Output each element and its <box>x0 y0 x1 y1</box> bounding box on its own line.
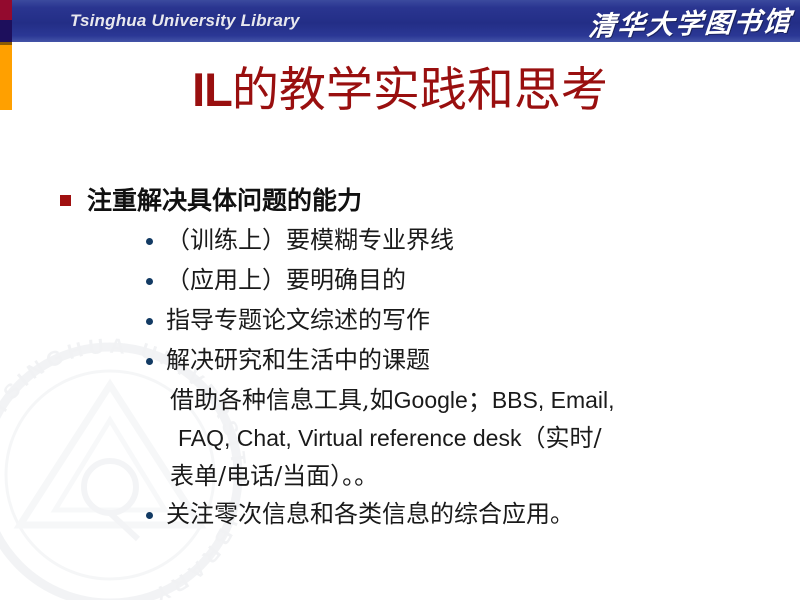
dot-bullet-icon <box>146 278 153 285</box>
bullet-level1-item: 注重解决具体问题的能力 <box>60 185 800 216</box>
dot-bullet-icon <box>146 238 153 245</box>
bullet-level2-label: （应用上）要明确目的 <box>166 262 406 300</box>
bullet-level2-item: 解决研究和生活中的课题 <box>146 342 800 380</box>
continuation-latin: FAQ, Chat, Virtual reference desk <box>178 425 521 451</box>
library-logo: 清华大学图书馆 <box>592 2 792 40</box>
header-title: Tsinghua University Library <box>70 11 300 31</box>
continuation-sep: ； <box>468 386 492 414</box>
bullet-level2-label: 关注零次信息和各类信息的综合应用。 <box>166 496 574 534</box>
continuation-latin-2: BBS, Email, <box>492 387 615 413</box>
library-logo-text: 清华大学图书馆 <box>587 0 794 43</box>
bullet-level2-label: 指导专题论文综述的写作 <box>166 302 430 340</box>
slide-title-latin: IL <box>192 63 232 116</box>
continuation-line: 表单/电话/当面）。。 <box>170 458 800 496</box>
square-bullet-icon <box>60 195 71 206</box>
dot-bullet-icon <box>146 358 153 365</box>
dot-bullet-icon <box>146 512 153 519</box>
bullet-level1-label: 注重解决具体问题的能力 <box>87 185 362 216</box>
bullet-level2-label: （训练上）要模糊专业界线 <box>166 222 454 260</box>
continuation-cjk: 借助各种信息工具,如 <box>170 386 394 414</box>
bullet-level2-item: 指导专题论文综述的写作 <box>146 302 800 340</box>
continuation-latin: Google <box>394 387 468 413</box>
bullet-level2-label: 解决研究和生活中的课题 <box>166 342 430 380</box>
bullet-level2-item: （应用上）要明确目的 <box>146 262 800 300</box>
dot-bullet-icon <box>146 318 153 325</box>
continuation-cjk: （实时/ <box>521 424 601 452</box>
slide-body: 注重解决具体问题的能力 （训练上）要模糊专业界线 （应用上）要明确目的 指导专题… <box>0 185 800 536</box>
accent-block-red <box>0 0 12 20</box>
continuation-line: FAQ, Chat, Virtual reference desk（实时/ <box>178 420 800 458</box>
slide-title: IL的教学实践和思考 <box>0 63 800 118</box>
bullet-level2-item: （训练上）要模糊专业界线 <box>146 222 800 260</box>
bullet-level2-item: 关注零次信息和各类信息的综合应用。 <box>146 496 800 534</box>
slide-canvas: Tsinghua University Library 清华大学图书馆 TSIN… <box>0 0 800 600</box>
header-banner: Tsinghua University Library 清华大学图书馆 <box>12 0 800 42</box>
accent-block-purple <box>0 20 12 42</box>
continuation-line: 借助各种信息工具,如Google；BBS, Email, <box>170 382 800 420</box>
continuation-cjk: 表单/电话/当面）。。 <box>170 462 378 490</box>
slide-title-cjk: 的教学实践和思考 <box>232 63 608 118</box>
